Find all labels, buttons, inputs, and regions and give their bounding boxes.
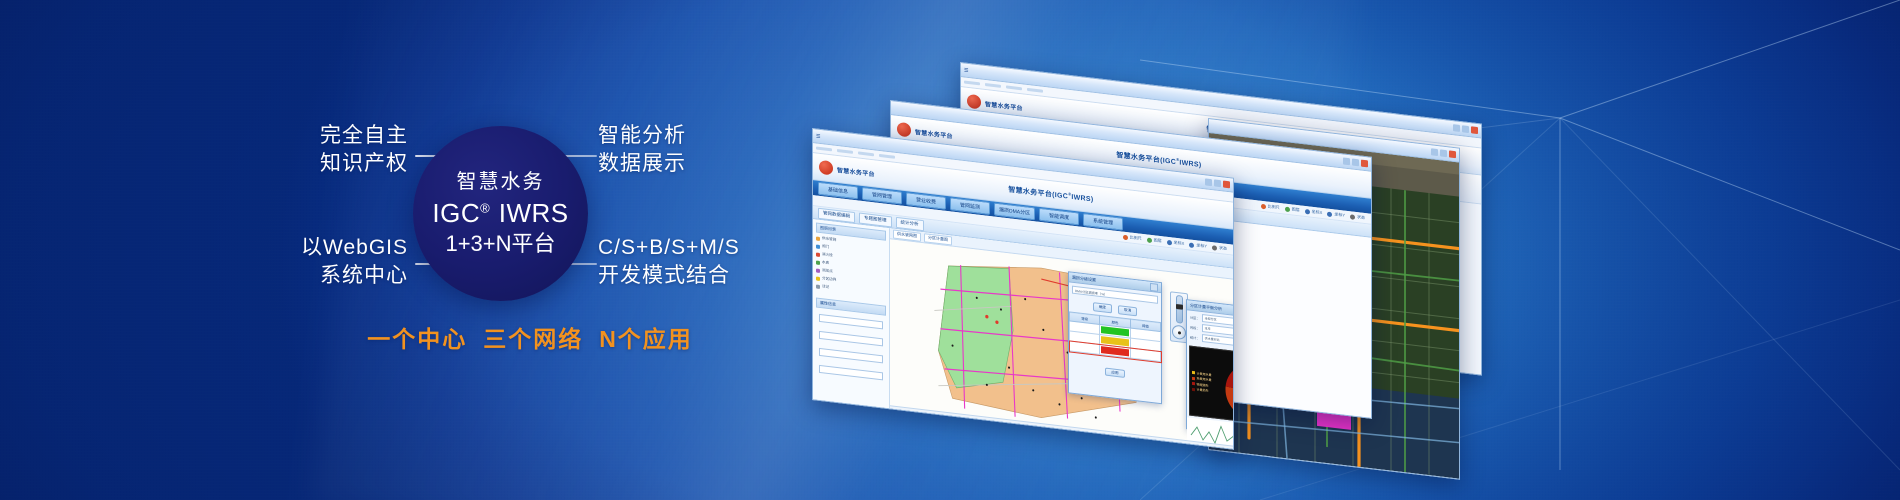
pan-pad-icon[interactable] xyxy=(1172,324,1186,340)
donut-chart xyxy=(1215,351,1233,424)
feature-top-right-line1: 智能分析 xyxy=(598,122,686,150)
registered-mark-icon: ® xyxy=(480,200,490,215)
concept-diagram: 完全自主 知识产权 以WebGIS 系统中心 智能分析 数据展示 C/S+B/S… xyxy=(0,0,830,500)
feature-top-right-line2: 数据展示 xyxy=(598,150,686,178)
hub-product-code: IGC®IWRS xyxy=(432,199,568,228)
apply-button[interactable]: 应用 xyxy=(1105,368,1124,378)
status-item-coord-y: 坐标Y xyxy=(1189,242,1207,250)
hub-code-igc: IGC xyxy=(432,198,480,228)
hub-product-name: 智慧水务 xyxy=(457,171,545,193)
dashboard-field1-label: 分区： xyxy=(1190,314,1200,320)
confirm-button[interactable]: 确定 xyxy=(1093,302,1112,313)
status-item: 图层 xyxy=(1285,206,1300,214)
status-item-state: 状态 xyxy=(1212,244,1227,252)
statusbar-item: 就绪 xyxy=(894,408,900,414)
status-item-scale: 比例尺 xyxy=(1123,234,1142,242)
app-logo-icon xyxy=(967,94,981,110)
screenshot-stack: ☰ 智慧水务平台 智慧水务平台(IGC®IWRS) 基础信息 管网管理 监测 调… xyxy=(790,0,1690,500)
app-title-front: 智慧水务平台(IGC®IWRS) xyxy=(1008,184,1093,204)
feature-bottom-right-line1: C/S+B/S+M/S xyxy=(598,234,740,262)
tagline-part3: N个应用 xyxy=(599,326,693,352)
tagline: 一个中心三个网络N个应用 xyxy=(300,320,760,354)
feature-top-right: 智能分析 数据展示 xyxy=(598,122,686,178)
window-menu-glyph: ☰ xyxy=(964,67,968,74)
props-field[interactable] xyxy=(819,365,883,381)
banner-stage: 完全自主 知识产权 以WebGIS 系统中心 智能分析 数据展示 C/S+B/S… xyxy=(0,0,1900,500)
feature-bottom-left: 以WebGIS 系统中心 xyxy=(228,234,408,290)
cancel-button[interactable]: 取消 xyxy=(1118,305,1137,316)
zoom-slider[interactable] xyxy=(1176,295,1183,324)
status-item-coord-x: 坐标X xyxy=(1167,239,1185,247)
zoom-slider-handle[interactable] xyxy=(1176,304,1183,310)
statusbar-item: 用户：admin xyxy=(906,410,924,417)
close-icon[interactable] xyxy=(1150,282,1158,291)
donut-legend: 计费用水量 免费用水量 物理漏失 计量损失 xyxy=(1192,349,1212,415)
window-controls-satellite[interactable] xyxy=(1431,148,1456,158)
hub-code-iwrs: IWRS xyxy=(499,198,569,228)
window-menu-glyph: ☰ xyxy=(816,133,820,140)
status-item: 状态 xyxy=(1350,213,1365,221)
props-field[interactable] xyxy=(819,314,883,330)
feature-bottom-left-line2: 系统中心 xyxy=(228,262,408,290)
layer-panel[interactable]: 图层目录 供水管网 阀门 消火栓 水表 测压点 分区边界 注记 属性信息 xyxy=(813,219,890,414)
props-field[interactable] xyxy=(819,331,883,347)
window-controls-front[interactable] xyxy=(1205,178,1230,188)
status-item: 坐标X xyxy=(1305,208,1323,216)
window-controls-middle[interactable] xyxy=(1343,157,1368,167)
app-logo-icon xyxy=(819,160,833,176)
feature-top-left-line1: 完全自主 xyxy=(228,122,408,150)
window-controls-back[interactable] xyxy=(1453,124,1478,134)
app-window-front[interactable]: ☰ 智慧水务平台 智慧水务平台(IGC®IWRS) 基础信息 管网管理 营业收费… xyxy=(812,128,1234,450)
props-field[interactable] xyxy=(819,348,883,364)
tagline-part2: 三个网络 xyxy=(483,326,583,352)
tagline-part1: 一个中心 xyxy=(367,326,467,352)
dashboard-field2-label: 时段： xyxy=(1190,324,1200,330)
status-item: 比例尺 xyxy=(1261,203,1280,211)
leak-grading-dialog[interactable]: 漏损分级设置 DMA分区漏损率（%） 确定 取消 等级 颜色 xyxy=(1068,271,1162,404)
feature-bottom-right: C/S+B/S+M/S 开发模式结合 xyxy=(598,234,740,290)
feature-top-left-line2: 知识产权 xyxy=(228,150,408,178)
donut-legend-item: 计量损失 xyxy=(1192,387,1212,393)
feature-bottom-left-line1: 以WebGIS xyxy=(228,234,408,262)
feature-top-left: 完全自主 知识产权 xyxy=(228,122,408,178)
props-panel-header: 属性信息 xyxy=(816,297,886,315)
brand-name-front: 智慧水务平台 xyxy=(837,164,875,177)
donut-chart-panel: 计费用水量 免费用水量 物理漏失 计量损失 供水量 512.23 xyxy=(1189,345,1233,428)
app-logo-icon xyxy=(897,122,911,138)
feature-bottom-right-line2: 开发模式结合 xyxy=(598,262,740,290)
status-item: 坐标Y xyxy=(1327,211,1345,219)
metering-dashboard-window[interactable]: 分区计量平衡分析 分区： 全部分区 时段： 本月 统计： xyxy=(1186,299,1233,442)
statusbar-item: 连接：本地服务器 xyxy=(931,412,957,420)
brand-name-middle: 智慧水务平台 xyxy=(915,126,953,139)
status-item-layer: 图层 xyxy=(1147,236,1162,244)
hub-platform-label: 1+3+N平台 xyxy=(445,231,555,256)
brand-name-back: 智慧水务平台 xyxy=(985,98,1023,111)
dashboard-field3-label: 统计： xyxy=(1190,334,1200,340)
hub-circle: 智慧水务 IGC®IWRS 1+3+N平台 xyxy=(413,126,588,301)
